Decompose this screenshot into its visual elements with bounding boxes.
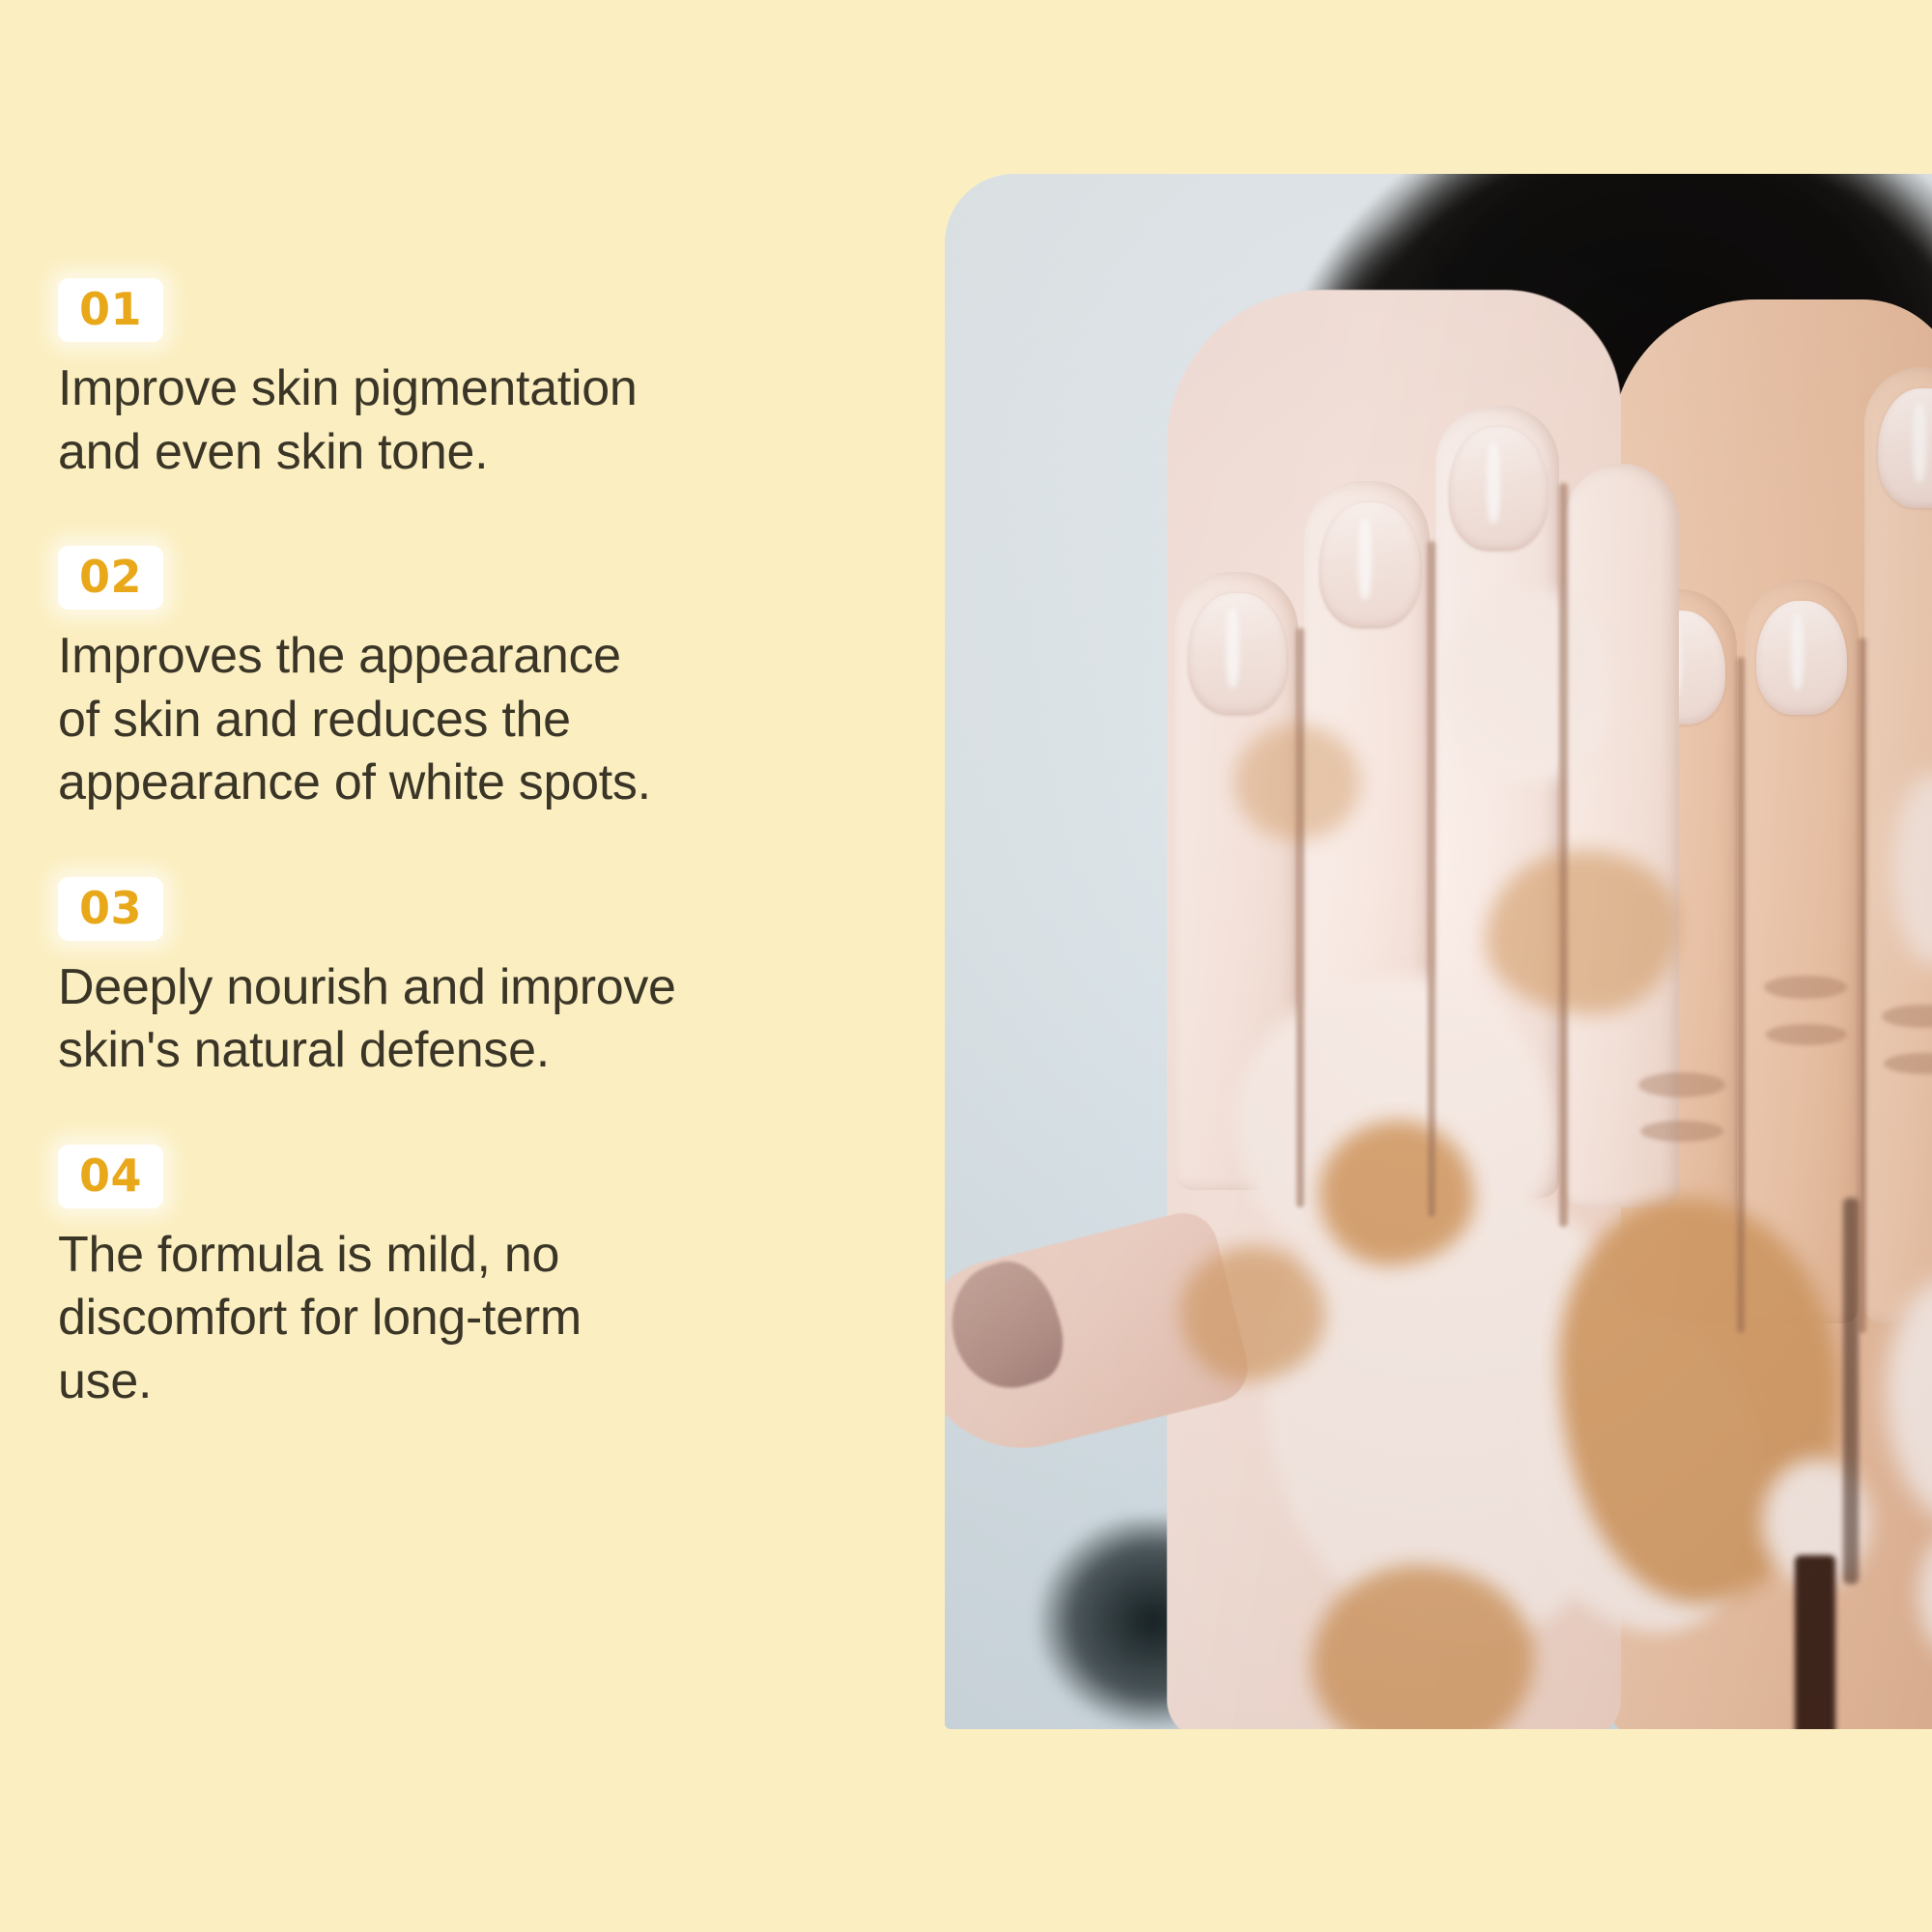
wrist-gap-shadow-2	[1843, 1198, 1859, 1584]
finger-separation-1	[1296, 628, 1304, 1207]
benefit-text-03: Deeply nourish and improve skin's natura…	[58, 956, 831, 1083]
benefit-text-01: Improve skin pigmentation and even skin …	[58, 357, 831, 484]
finger-separation-5	[1859, 638, 1866, 1333]
knuckle-crease-4	[1766, 1024, 1847, 1045]
benefit-item-01: 01 Improve skin pigmentation and even sk…	[58, 278, 879, 484]
benefit-number-badge-04: 04	[58, 1145, 163, 1208]
wrist-gap-shadow	[1795, 1555, 1835, 1729]
benefit-item-04: 04 The formula is mild, no discomfort fo…	[58, 1145, 879, 1414]
nail-right-2	[1756, 601, 1847, 715]
benefits-list: 01 Improve skin pigmentation and even sk…	[58, 278, 879, 1413]
vitiligo-hands-photo	[945, 174, 1932, 1729]
nail-left-1	[1188, 593, 1287, 715]
benefit-item-02: 02 Improves the appearance of skin and r…	[58, 546, 879, 815]
benefit-text-04: The formula is mild, no discomfort for l…	[58, 1224, 831, 1414]
knuckle-crease-2	[1640, 1121, 1723, 1142]
benefit-number-badge-02: 02	[58, 546, 163, 610]
vitiligo-patch-3	[1447, 589, 1611, 782]
nail-left-3	[1449, 427, 1548, 551]
nail-left-2	[1320, 502, 1420, 628]
finger-separation-2	[1428, 541, 1435, 1217]
pigment-island-1	[1320, 1121, 1474, 1265]
benefit-number-badge-03: 03	[58, 877, 163, 941]
knuckle-crease-1	[1638, 1072, 1725, 1097]
finger-separation-4	[1737, 657, 1745, 1333]
benefit-text-02: Improves the appearance of skin and redu…	[58, 625, 831, 815]
pigment-island-3	[1486, 850, 1679, 1014]
benefit-item-03: 03 Deeply nourish and improve skin's nat…	[58, 877, 879, 1083]
benefit-number-badge-01: 01	[58, 278, 163, 342]
finger-separation-3	[1559, 483, 1568, 1227]
knuckle-crease-3	[1764, 976, 1847, 999]
promo-slide: 01 Improve skin pigmentation and even sk…	[0, 0, 1932, 1932]
